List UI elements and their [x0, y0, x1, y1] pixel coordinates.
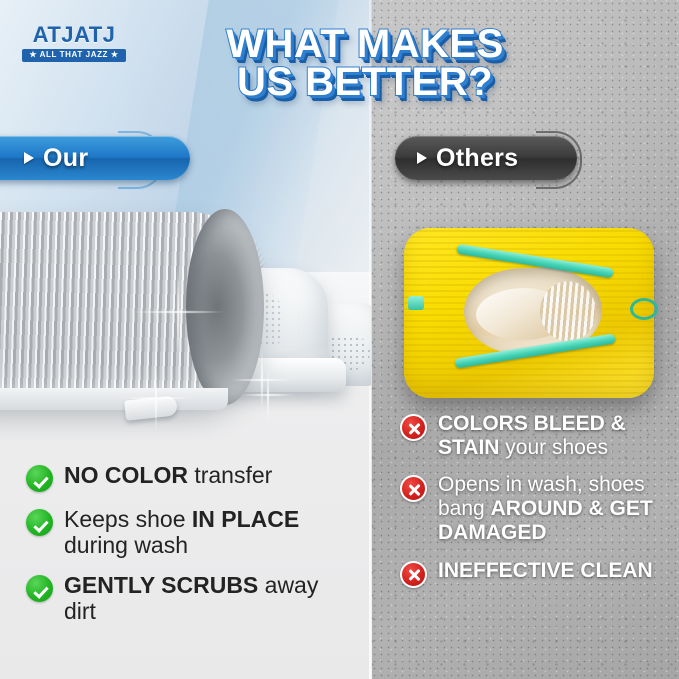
list-item: GENTLY SCRUBS away dirt [26, 572, 356, 624]
page-title: WHAT MAKES US BETTER? [160, 25, 570, 102]
others-product-photo [390, 220, 679, 410]
bag-bottom-edge [0, 388, 228, 410]
brand-tagline: ★ ALL THAT JAZZ ★ [22, 49, 126, 62]
green-check-icon [26, 509, 53, 536]
benefit-text-2: GENTLY SCRUBS away dirt [64, 572, 356, 624]
drawback-text-2: INEFFECTIVE CLEAN [438, 559, 672, 583]
red-x-icon [400, 561, 427, 588]
list-item: INEFFECTIVE CLEAN [400, 559, 672, 588]
list-item: COLORS BLEED & STAIN your shoes [400, 412, 672, 459]
tab-our-label: Our [43, 144, 88, 173]
triangle-right-icon [24, 152, 34, 164]
drawbacks-list: COLORS BLEED & STAIN your shoes Opens in… [400, 412, 672, 588]
bag-tag [124, 395, 178, 420]
red-x-icon [400, 414, 427, 441]
infographic-canvas: ATJATJ ★ ALL THAT JAZZ ★ WHAT MAKES US B… [0, 0, 679, 679]
list-item: NO COLOR transfer [26, 462, 356, 492]
zipper-pull-icon [630, 298, 658, 320]
brand-name: ATJATJ [22, 24, 126, 46]
drawback-text-0: COLORS BLEED & STAIN your shoes [438, 412, 672, 459]
benefit-text-0: NO COLOR transfer [64, 462, 356, 488]
benefits-list: NO COLOR transfer Keeps shoe IN PLACE du… [26, 462, 356, 624]
list-item: Opens in wash, shoes bang AROUND & GET D… [400, 473, 672, 544]
title-line-1: WHAT MAKES [226, 22, 504, 66]
our-product-photo [0, 190, 371, 440]
green-check-icon [26, 575, 53, 602]
brand-logo: ATJATJ ★ ALL THAT JAZZ ★ [22, 24, 126, 62]
gray-wash-bag [0, 212, 260, 402]
title-line-2: US BETTER? [160, 63, 570, 101]
tab-our[interactable]: Our [0, 136, 190, 180]
drawback-text-1: Opens in wash, shoes bang AROUND & GET D… [438, 473, 672, 544]
green-check-icon [26, 465, 53, 492]
zipper-stop [408, 296, 424, 310]
triangle-right-icon [417, 152, 427, 164]
tab-others-label: Others [436, 144, 518, 173]
red-x-icon [400, 475, 427, 502]
benefit-text-1: Keeps shoe IN PLACE during wash [64, 506, 356, 558]
tab-others[interactable]: Others [395, 136, 577, 180]
list-item: Keeps shoe IN PLACE during wash [26, 506, 356, 558]
